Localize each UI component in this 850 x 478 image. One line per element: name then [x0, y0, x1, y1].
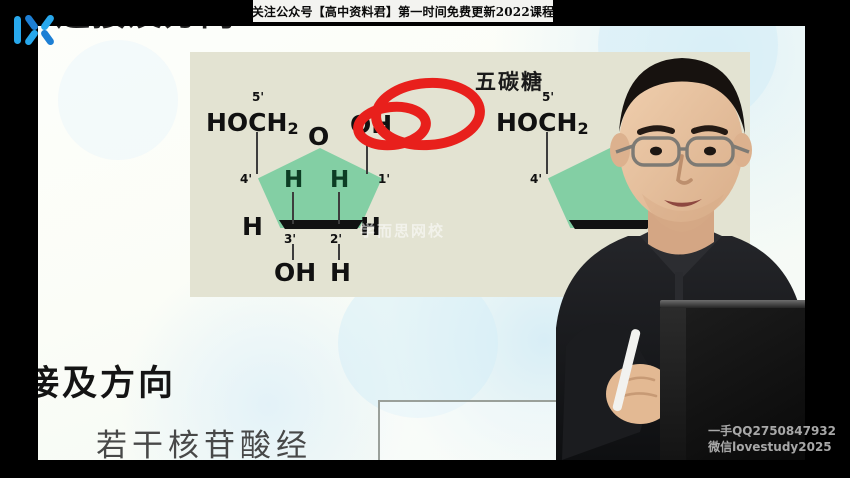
slide-heading: 接及方向 — [38, 355, 176, 406]
atom-c5-subscript: 2 — [287, 119, 298, 138]
atom-c5-group: HOCH2 — [206, 108, 299, 138]
promo-banner: 关注公众号【高中资料君】第一时间免费更新2022课程 — [253, 0, 553, 22]
video-player-stage: 连接及方向 接及方向 若干核苷酸经 5' HOCH2 O OH 4' 1' — [0, 0, 850, 478]
prime-2: 2' — [330, 232, 342, 246]
lectern-side-panel — [660, 308, 686, 460]
letterbox-left — [0, 0, 38, 478]
bond-ring-h-2 — [338, 192, 340, 224]
atom-c4-h: H — [242, 212, 263, 241]
bond-c5-c4 — [256, 132, 258, 174]
letterbox-bottom — [0, 460, 850, 478]
bond-ring-h-3 — [292, 192, 294, 224]
slide-subline: 若干核苷酸经 — [96, 420, 312, 460]
atom-c3-hydroxyl: OH — [274, 258, 316, 287]
contact-watermark: 一手QQ2750847932 微信lovestudy2025 — [708, 424, 836, 456]
watermark-wechat: 微信lovestudy2025 — [708, 440, 836, 456]
red-circle-annotation — [340, 74, 500, 164]
prime-3: 3' — [284, 232, 296, 246]
letterbox-right — [805, 0, 850, 478]
atom-ring-oxygen: O — [308, 122, 329, 151]
xueersi-logo — [10, 12, 72, 48]
prime-4: 4' — [240, 172, 252, 186]
diagram-watermark: 学而思网校 — [360, 220, 445, 241]
lectern-top-edge — [660, 300, 805, 308]
prime-5: 5' — [252, 90, 264, 104]
atom-ring-h-right: H — [330, 167, 349, 193]
lecture-slide: 连接及方向 接及方向 若干核苷酸经 5' HOCH2 O OH 4' 1' — [38, 0, 805, 460]
watermark-qq: 一手QQ2750847932 — [708, 424, 836, 440]
decor-blob — [58, 40, 178, 160]
atom-c2-h: H — [330, 258, 351, 287]
prime-1: 1' — [378, 172, 390, 186]
promo-banner-text: 关注公众号【高中资料君】第一时间免费更新2022课程 — [252, 3, 555, 20]
atom-ring-h-left: H — [284, 167, 303, 193]
